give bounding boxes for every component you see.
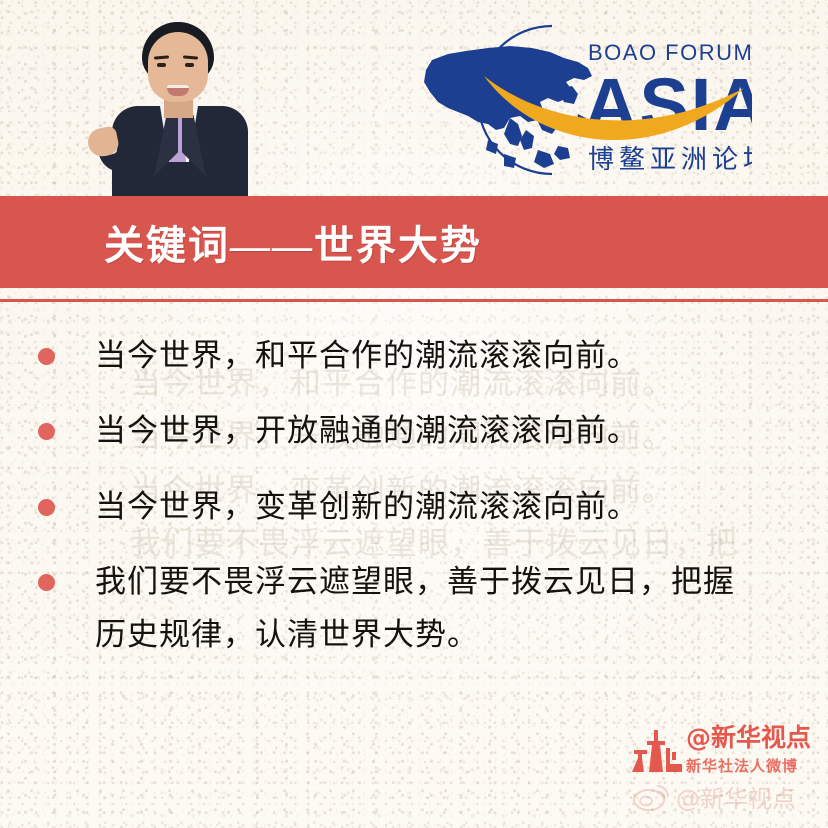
list-item: 我们要不畏浮云遮望眼，善于拨云见日，把握历史规律，认清世界大势。 [0,556,828,663]
brand-handle: @新华视点 [686,724,811,752]
xinhua-logo-mark [630,728,684,776]
weibo-watermark: @新华视点 [632,779,796,814]
bullet-dot-icon [38,499,55,516]
list-item: 当今世界，变革创新的潮流滚滚向前。 [0,481,828,534]
portrait-eye-left [157,63,166,67]
list-item-text: 当今世界，开放融通的潮流滚滚向前。 [95,405,639,458]
boao-forum-logo: BOAO FORUM FOR ASIA 博鳌亚洲论坛 [392,18,752,184]
bullet-list: 当今世界，和平合作的潮流滚滚向前。 当今世界，开放融通的潮流滚滚向前。 当今世界… [0,330,828,685]
weibo-eye-icon [632,782,672,812]
banner-divider-rule [0,299,828,302]
xinhua-branding: @新华视点 新华社法人微博 @新华视点 [624,722,814,816]
bullet-dot-icon [38,574,55,591]
weibo-watermark-text: @新华视点 [676,779,796,814]
list-item-text: 当今世界，变革创新的潮流滚滚向前。 [95,481,639,534]
bullet-dot-icon [38,348,55,365]
list-item-text: 当今世界，和平合作的潮流滚滚向前。 [95,330,639,383]
header-zone: BOAO FORUM FOR ASIA 博鳌亚洲论坛 [0,0,828,196]
title-banner: 关键词——世界大势 [0,196,828,288]
xinhua-logo-mark-icon [630,728,684,776]
bullet-dot-icon [38,423,55,440]
list-item-text: 我们要不畏浮云遮望眼，善于拨云见日，把握历史规律，认清世界大势。 [95,556,755,663]
page-title: 关键词——世界大势 [104,213,482,271]
portrait-mouth [167,85,189,96]
speaker-portrait [86,6,274,196]
portrait-eye-right [185,63,194,67]
poster-root: BOAO FORUM FOR ASIA 博鳌亚洲论坛 关键词——世界大势 当今世… [0,0,828,828]
logo-english-top: BOAO FORUM FOR [588,40,752,65]
boao-forum-logo-svg: BOAO FORUM FOR ASIA 博鳌亚洲论坛 [392,18,752,184]
brand-text-block: @新华视点 新华社法人微博 [686,724,811,776]
list-item: 当今世界，和平合作的潮流滚滚向前。 [0,330,828,383]
logo-chinese-name: 博鳌亚洲论坛 [588,145,752,175]
brand-subtitle: 新华社法人微博 [686,755,811,776]
asia-map-icon [424,46,592,168]
list-item: 当今世界，开放融通的潮流滚滚向前。 [0,405,828,458]
